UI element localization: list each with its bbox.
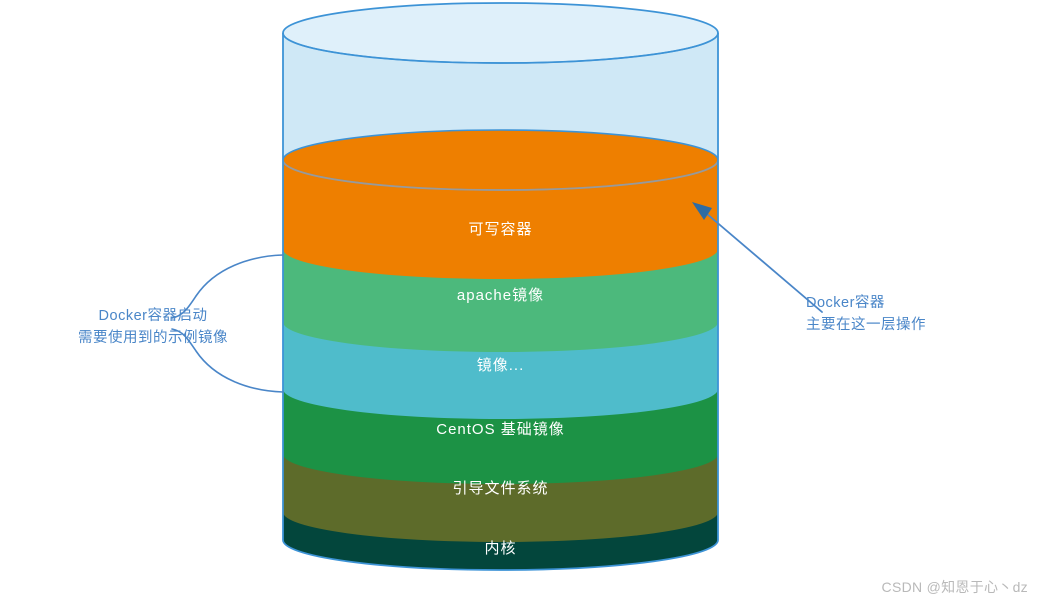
diagram-canvas: 可写容器 apache镜像 镜像... CentOS 基础镜像 引导文件系统 内… xyxy=(0,0,1044,607)
left-brace-connector xyxy=(172,255,283,392)
layer-shape-writable-container xyxy=(283,130,718,279)
csdn-watermark: CSDN @知恩于心丶dz xyxy=(882,577,1028,597)
layered-cylinder-graphic xyxy=(0,0,1044,607)
